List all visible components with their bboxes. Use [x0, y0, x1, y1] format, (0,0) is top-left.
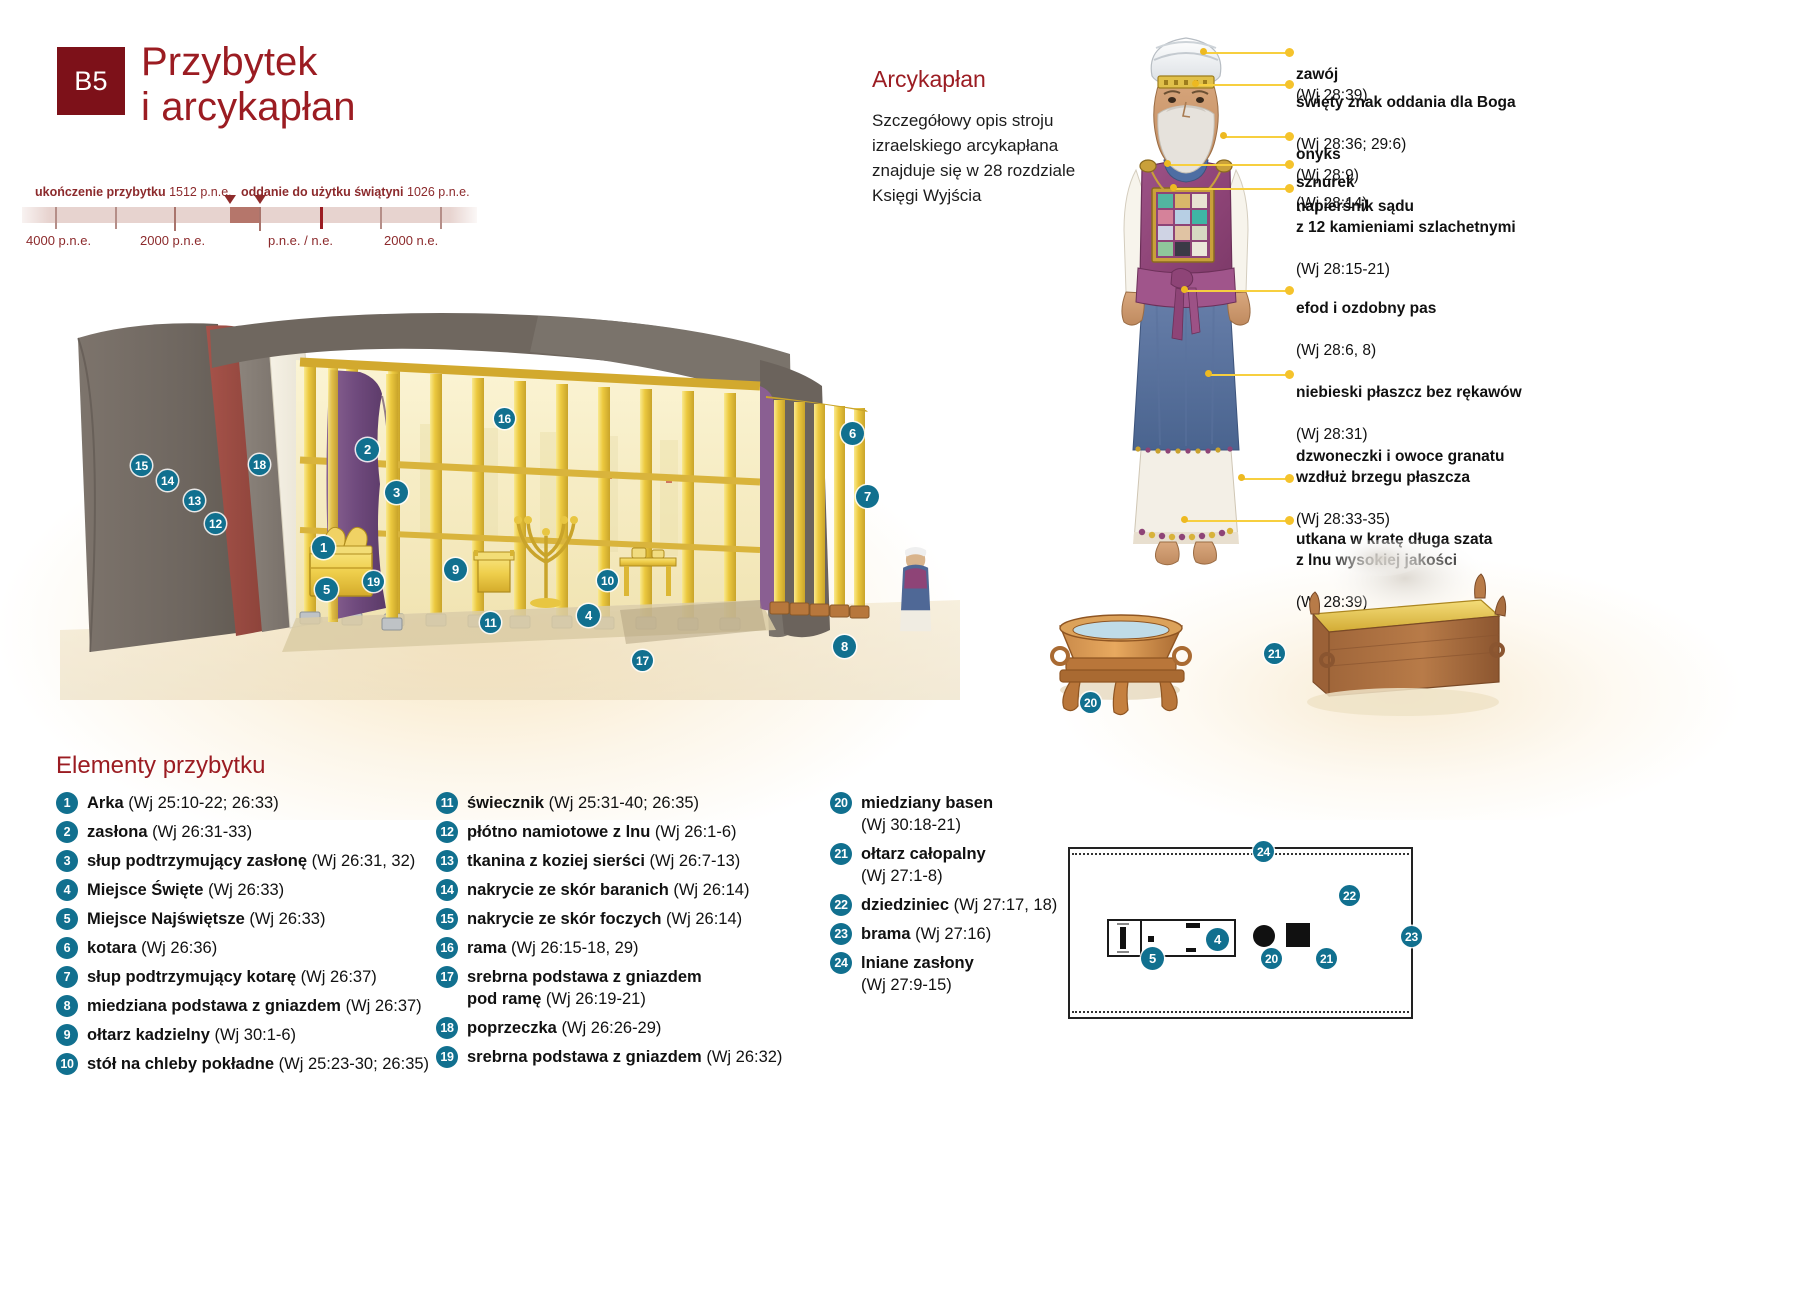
legend-item-text: tkanina z koziej sierści (Wj 26:7-13) — [467, 848, 740, 872]
legend-item-text: Miejsce Najświętsze (Wj 26:33) — [87, 906, 325, 930]
legend-item-ref: (Wj 27:16) — [911, 925, 992, 943]
legend-item-name: miedziana podstawa z gniazdem — [87, 997, 341, 1015]
callout-dot-3 — [1285, 160, 1294, 169]
illustration-marker-1[interactable]: 1 — [312, 536, 335, 559]
plan-showbread-table — [1186, 923, 1200, 928]
legend-item[interactable]: 8miedziana podstawa z gniazdem (Wj 26:37… — [56, 993, 456, 1017]
legend-item-ref: (Wj 25:10-22; 26:33) — [124, 794, 279, 812]
legend-item[interactable]: 7słup podtrzymujący kotarę (Wj 26:37) — [56, 964, 456, 988]
legend-item-ref: (Wj 30:1-6) — [210, 1026, 296, 1044]
timeline-highlight-band — [230, 207, 260, 223]
timeline-event-0-bold: ukończenie przybytku — [35, 185, 166, 199]
callout-leader-3 — [1168, 164, 1290, 166]
legend-item-ref: (Wj 27:9-15) — [861, 976, 952, 994]
legend-item-number: 19 — [436, 1046, 458, 1068]
illustration-marker-10[interactable]: 10 — [597, 570, 618, 591]
callout-leader-5 — [1185, 290, 1290, 292]
legend-item-number: 23 — [830, 923, 852, 945]
illustration-marker-20[interactable]: 20 — [1261, 948, 1282, 969]
legend-item-name: brama — [861, 925, 911, 943]
legend-item-text: słup podtrzymujący kotarę (Wj 26:37) — [87, 964, 377, 988]
illustration-marker-23[interactable]: 23 — [1401, 926, 1422, 947]
legend-item[interactable]: 22dziedziniec (Wj 27:17, 18) — [830, 892, 1090, 916]
legend-item-ref: (Wj 27:1-8) — [861, 867, 943, 885]
legend-item-number: 7 — [56, 966, 78, 988]
legend-item-text: nakrycie ze skór baranich (Wj 26:14) — [467, 877, 749, 901]
legend-item-text: Arka (Wj 25:10-22; 26:33) — [87, 790, 279, 814]
legend-item-ref: (Wj 26:19-21) — [546, 990, 646, 1008]
legend-item-ref: (Wj 26:7-13) — [645, 852, 740, 870]
illustration-marker-13[interactable]: 13 — [184, 490, 205, 511]
legend-item-number: 13 — [436, 850, 458, 872]
legend-item[interactable]: 9ołtarz kadzielny (Wj 30:1-6) — [56, 1022, 456, 1046]
timeline-event-1-bold: oddanie do użytku świątyni — [241, 185, 404, 199]
page-title-line2: i arcykapłan — [141, 85, 356, 130]
legend-item-text: poprzeczka (Wj 26:26-29) — [467, 1015, 661, 1039]
legend-item-text: srebrna podstawa z gniazdem pod ramę (Wj… — [467, 964, 702, 1010]
legend-item[interactable]: 12płótno namiotowe z lnu (Wj 26:1-6) — [436, 819, 836, 843]
timeline-axis-label-0: 4000 p.n.e. — [26, 233, 91, 248]
legend-item-name: słup podtrzymujący zasłonę — [87, 852, 307, 870]
illustration-marker-3[interactable]: 3 — [385, 481, 408, 504]
legend-column-3: 20miedziany basen(Wj 30:18-21)21ołtarz c… — [830, 790, 1090, 1001]
callout-leader-1 — [1196, 84, 1290, 86]
legend-item-ref: (Wj 26:33) — [203, 881, 284, 899]
callout-anchor-dot-2 — [1220, 132, 1227, 139]
legend-item-text: świecznik (Wj 25:31-40; 26:35) — [467, 790, 699, 814]
illustration-marker-4[interactable]: 4 — [1206, 928, 1229, 951]
timeline: ukończenie przybytku 1512 p.n.e. oddanie… — [22, 185, 492, 255]
timeline-event-1-rest: 1026 p.n.e. — [407, 185, 470, 199]
legend-item-ref: (Wj 26:32) — [702, 1048, 783, 1066]
legend-item[interactable]: 20miedziany basen(Wj 30:18-21) — [830, 790, 1090, 836]
page-title: Przybytek i arcykapłan — [141, 40, 356, 130]
legend-item-text: brama (Wj 27:16) — [861, 921, 991, 945]
legend-item-text: miedziany basen(Wj 30:18-21) — [861, 790, 993, 836]
timeline-tick — [259, 207, 261, 231]
callout-1-head: święty znak oddania dla Boga — [1296, 92, 1516, 113]
timeline-event-label-0: ukończenie przybytku 1512 p.n.e. — [35, 185, 232, 199]
illustration-marker-6[interactable]: 6 — [841, 422, 864, 445]
timeline-tick — [440, 207, 442, 229]
legend-item[interactable]: 21ołtarz całopalny(Wj 27:1-8) — [830, 841, 1090, 887]
legend-item-name: ołtarz całopalny — [861, 845, 986, 863]
legend-item-ref: (Wj 26:14) — [661, 910, 742, 928]
legend-item-ref: (Wj 25:23-30; 26:35) — [274, 1055, 429, 1073]
illustration-marker-22[interactable]: 22 — [1339, 885, 1360, 906]
legend-item-text: stół na chleby pokładne (Wj 25:23-30; 26… — [87, 1051, 429, 1075]
legend-item-number: 17 — [436, 966, 458, 988]
legend-item-ref: (Wj 26:14) — [669, 881, 750, 899]
legend-item-number: 10 — [56, 1053, 78, 1075]
legend-item-text: miedziana podstawa z gniazdem (Wj 26:37) — [87, 993, 422, 1017]
legend-item-ref: (Wj 25:31-40; 26:35) — [544, 794, 699, 812]
legend-item-number: 5 — [56, 908, 78, 930]
legend-item-number: 18 — [436, 1017, 458, 1039]
legend-item-text: lniane zasłony(Wj 27:9-15) — [861, 950, 974, 996]
legend-item-name: poprzeczka — [467, 1019, 557, 1037]
legend-item-ref: (Wj 26:37) — [296, 968, 377, 986]
timeline-event-0-rest: 1512 p.n.e. — [169, 185, 232, 199]
plan-curtain-top — [1072, 853, 1409, 855]
plan-ark — [1120, 927, 1126, 949]
illustration-marker-12[interactable]: 12 — [205, 513, 226, 534]
illustration-marker-5[interactable]: 5 — [315, 578, 338, 601]
callout-anchor-dot-1 — [1192, 80, 1199, 87]
legend-item-number: 9 — [56, 1024, 78, 1046]
legend-item[interactable]: 6kotara (Wj 26:36) — [56, 935, 456, 959]
callout-leader-2 — [1224, 136, 1290, 138]
illustration-marker-8[interactable]: 8 — [833, 635, 856, 658]
legend-item-ref: (Wj 26:31-33) — [148, 823, 253, 841]
callout-anchor-dot-5 — [1181, 286, 1188, 293]
legend-item-text: zasłona (Wj 26:31-33) — [87, 819, 252, 843]
legend-item-name: zasłona — [87, 823, 148, 841]
legend-item-number: 3 — [56, 850, 78, 872]
callout-leader-4 — [1174, 188, 1290, 190]
legend-item-number: 2 — [56, 821, 78, 843]
illustration-marker-17[interactable]: 17 — [632, 650, 653, 671]
infographic-page: B5 Przybytek i arcykapłan ukończenie prz… — [0, 0, 1800, 1300]
legend-item-name: płótno namiotowe z lnu — [467, 823, 650, 841]
plan-copper-basin — [1253, 925, 1275, 947]
legend-item-number: 6 — [56, 937, 78, 959]
legend-item-name: nakrycie ze skór foczych — [467, 910, 661, 928]
high-priest-description: Szczegółowy opis stroju izraelskiego arc… — [872, 108, 1097, 208]
illustration-marker-18[interactable]: 18 — [249, 454, 270, 475]
legend-item-text: Miejsce Święte (Wj 26:33) — [87, 877, 284, 901]
burnt-offering-altar-illustration — [1285, 540, 1515, 720]
legend-item[interactable]: 5Miejsce Najświętsze (Wj 26:33) — [56, 906, 456, 930]
legend-item-ref: (Wj 26:33) — [245, 910, 326, 928]
legend-item-text: słup podtrzymujący zasłonę (Wj 26:31, 32… — [87, 848, 415, 872]
copper-basin-svg — [1020, 580, 1220, 720]
legend-item-ref: (Wj 26:31, 32) — [307, 852, 415, 870]
high-priest-figure-svg — [1086, 20, 1286, 600]
section-badge-label: B5 — [74, 66, 108, 97]
high-priest-heading: Arcykapłan — [872, 66, 986, 93]
callout-leader-7 — [1242, 478, 1290, 480]
legend-item-name: lniane zasłony — [861, 954, 974, 972]
plan-lampstand — [1148, 936, 1154, 942]
callout-dot-1 — [1285, 80, 1294, 89]
legend-item-number: 24 — [830, 952, 852, 974]
legend-column-2: 11świecznik (Wj 25:31-40; 26:35)12płótno… — [436, 790, 836, 1073]
callout-5-ref: (Wj 28:6, 8) — [1296, 340, 1436, 361]
legend-column-1: 1Arka (Wj 25:10-22; 26:33)2zasłona (Wj 2… — [56, 790, 456, 1080]
legend-item-ref: (Wj 30:18-21) — [861, 816, 961, 834]
legend-item[interactable]: 3słup podtrzymujący zasłonę (Wj 26:31, 3… — [56, 848, 456, 872]
timeline-tick — [55, 207, 57, 229]
legend-item-name: Miejsce Święte — [87, 881, 203, 899]
callout-dot-5 — [1285, 286, 1294, 295]
legend-item-ref: (Wj 26:15-18, 29) — [506, 939, 638, 957]
timeline-axis-label-3: 2000 n.e. — [384, 233, 438, 248]
timeline-axis-label-1: 2000 p.n.e. — [140, 233, 205, 248]
legend-item[interactable]: 1Arka (Wj 25:10-22; 26:33) — [56, 790, 456, 814]
legend-item-name: tkanina z koziej sierści — [467, 852, 645, 870]
timeline-tick — [115, 207, 117, 229]
legend-item[interactable]: 13tkanina z koziej sierści (Wj 26:7-13) — [436, 848, 836, 872]
timeline-axis-label-2: p.n.e. / n.e. — [268, 233, 333, 248]
legend-item-text: kotara (Wj 26:36) — [87, 935, 217, 959]
legend-item-name: rama — [467, 939, 506, 957]
callout-dot-6 — [1285, 370, 1294, 379]
callout-leader-6 — [1209, 374, 1290, 376]
plan-burnt-offering-altar — [1286, 923, 1310, 947]
legend-item[interactable]: 4Miejsce Święte (Wj 26:33) — [56, 877, 456, 901]
legend-item-number: 4 — [56, 879, 78, 901]
legend-item-text: srebrna podstawa z gniazdem (Wj 26:32) — [467, 1044, 782, 1068]
legend-item-number: 22 — [830, 894, 852, 916]
callout-leader-0 — [1205, 52, 1290, 54]
legend-item-number: 11 — [436, 792, 458, 814]
legend-item[interactable]: 19srebrna podstawa z gniazdem (Wj 26:32) — [436, 1044, 836, 1068]
legend-item-text: rama (Wj 26:15-18, 29) — [467, 935, 639, 959]
legend-item-number: 1 — [56, 792, 78, 814]
legend-item[interactable]: 11świecznik (Wj 25:31-40; 26:35) — [436, 790, 836, 814]
legend-item-name: miedziany basen — [861, 794, 993, 812]
legend-item-ref: (Wj 26:36) — [137, 939, 218, 957]
legend-item[interactable]: 2zasłona (Wj 26:31-33) — [56, 819, 456, 843]
legend-item-number: 20 — [830, 792, 852, 814]
timeline-tick-era — [320, 207, 323, 229]
callout-anchor-dot-6 — [1205, 370, 1212, 377]
illustration-marker-21[interactable]: 21 — [1316, 948, 1337, 969]
legend-item-name: srebrna podstawa z gniazdem — [467, 1048, 702, 1066]
legend-item-name: świecznik — [467, 794, 544, 812]
illustration-marker-19[interactable]: 19 — [363, 571, 384, 592]
legend-item[interactable]: 16rama (Wj 26:15-18, 29) — [436, 935, 836, 959]
legend-item-name: nakrycie ze skór baranich — [467, 881, 669, 899]
legend-item-name: dziedziniec — [861, 896, 949, 914]
legend-item[interactable]: 15nakrycie ze skór foczych (Wj 26:14) — [436, 906, 836, 930]
legend-item-text: nakrycie ze skór foczych (Wj 26:14) — [467, 906, 742, 930]
legend-item-ref: (Wj 27:17, 18) — [949, 896, 1057, 914]
callout-dot-4 — [1285, 184, 1294, 193]
callout-anchor-dot-4 — [1170, 184, 1177, 191]
legend-item[interactable]: 23brama (Wj 27:16) — [830, 921, 1090, 945]
callout-5-head: efod i ozdobny pas — [1296, 298, 1436, 319]
illustration-marker-20[interactable]: 20 — [1080, 692, 1101, 713]
plan-incense-altar — [1186, 948, 1196, 952]
callout-dot-2 — [1285, 132, 1294, 141]
legend-item-text: dziedziniec (Wj 27:17, 18) — [861, 892, 1057, 916]
illustration-marker-24[interactable]: 24 — [1253, 841, 1274, 862]
legend-title: Elementy przybytku — [56, 752, 265, 780]
legend-item-ref: (Wj 26:26-29) — [557, 1019, 662, 1037]
callout-anchor-dot-3 — [1164, 160, 1171, 167]
callout-4-head: napierśnik sądu z 12 kamieniami szlachet… — [1296, 196, 1516, 238]
legend-item[interactable]: 10stół na chleby pokładne (Wj 25:23-30; … — [56, 1051, 456, 1075]
legend-item-ref: (Wj 26:1-6) — [650, 823, 736, 841]
illustration-marker-9[interactable]: 9 — [444, 558, 467, 581]
callout-anchor-dot-8 — [1181, 516, 1188, 523]
plan-ark-pole-bottom — [1117, 951, 1129, 953]
illustration-marker-14[interactable]: 14 — [157, 470, 178, 491]
courtyard-floor-plan — [1068, 847, 1413, 1019]
legend-item-name: stół na chleby pokładne — [87, 1055, 274, 1073]
legend-item-number: 8 — [56, 995, 78, 1017]
callout-dot-7 — [1285, 474, 1294, 483]
callout-anchor-dot-7 — [1238, 474, 1245, 481]
legend-item[interactable]: 18poprzeczka (Wj 26:26-29) — [436, 1015, 836, 1039]
legend-item-name: kotara — [87, 939, 137, 957]
legend-item-text: ołtarz kadzielny (Wj 30:1-6) — [87, 1022, 296, 1046]
altar-svg — [1285, 540, 1515, 720]
illustration-marker-7[interactable]: 7 — [856, 485, 879, 508]
legend-item-name: Miejsce Najświętsze — [87, 910, 245, 928]
illustration-marker-16[interactable]: 16 — [494, 408, 515, 429]
legend-item-number: 15 — [436, 908, 458, 930]
legend-item-text: płótno namiotowe z lnu (Wj 26:1-6) — [467, 819, 737, 843]
plan-ark-pole-top — [1117, 923, 1129, 925]
legend-item[interactable]: 24lniane zasłony(Wj 27:9-15) — [830, 950, 1090, 996]
illustration-marker-2[interactable]: 2 — [356, 438, 379, 461]
timeline-tick — [174, 207, 176, 231]
callout-6-head: niebieski płaszcz bez rękawów — [1296, 382, 1522, 403]
callout-anchor-dot-0 — [1200, 48, 1207, 55]
legend-item-ref: (Wj 26:37) — [341, 997, 422, 1015]
callout-7-head: dzwoneczki i owoce granatu wzdłuż brzegu… — [1296, 446, 1504, 488]
legend-item-name: słup podtrzymujący kotarę — [87, 968, 296, 986]
timeline-tick — [380, 207, 382, 229]
illustration-marker-5[interactable]: 5 — [1141, 947, 1164, 970]
section-badge: B5 — [57, 47, 125, 115]
legend-item[interactable]: 17srebrna podstawa z gniazdem pod ramę (… — [436, 964, 836, 1010]
callout-dot-8 — [1285, 516, 1294, 525]
legend-item-number: 16 — [436, 937, 458, 959]
legend-item-number: 21 — [830, 843, 852, 865]
legend-item-name: Arka — [87, 794, 124, 812]
copper-basin-illustration — [1020, 580, 1220, 720]
legend-item-number: 12 — [436, 821, 458, 843]
legend-item-text: ołtarz całopalny(Wj 27:1-8) — [861, 841, 986, 887]
page-title-line1: Przybytek — [141, 40, 356, 85]
illustration-marker-15[interactable]: 15 — [131, 455, 152, 476]
callout-leader-8 — [1185, 520, 1290, 522]
illustration-marker-11[interactable]: 11 — [480, 612, 501, 633]
illustration-marker-21[interactable]: 21 — [1264, 643, 1285, 664]
legend-item-number: 14 — [436, 879, 458, 901]
timeline-event-label-1: oddanie do użytku świątyni 1026 p.n.e. — [241, 185, 470, 199]
high-priest-illustration — [1086, 20, 1286, 600]
callout-dot-0 — [1285, 48, 1294, 57]
legend-item[interactable]: 14nakrycie ze skór baranich (Wj 26:14) — [436, 877, 836, 901]
plan-curtain-bottom — [1072, 1011, 1409, 1013]
legend-item-name: ołtarz kadzielny — [87, 1026, 210, 1044]
illustration-marker-4[interactable]: 4 — [577, 604, 600, 627]
